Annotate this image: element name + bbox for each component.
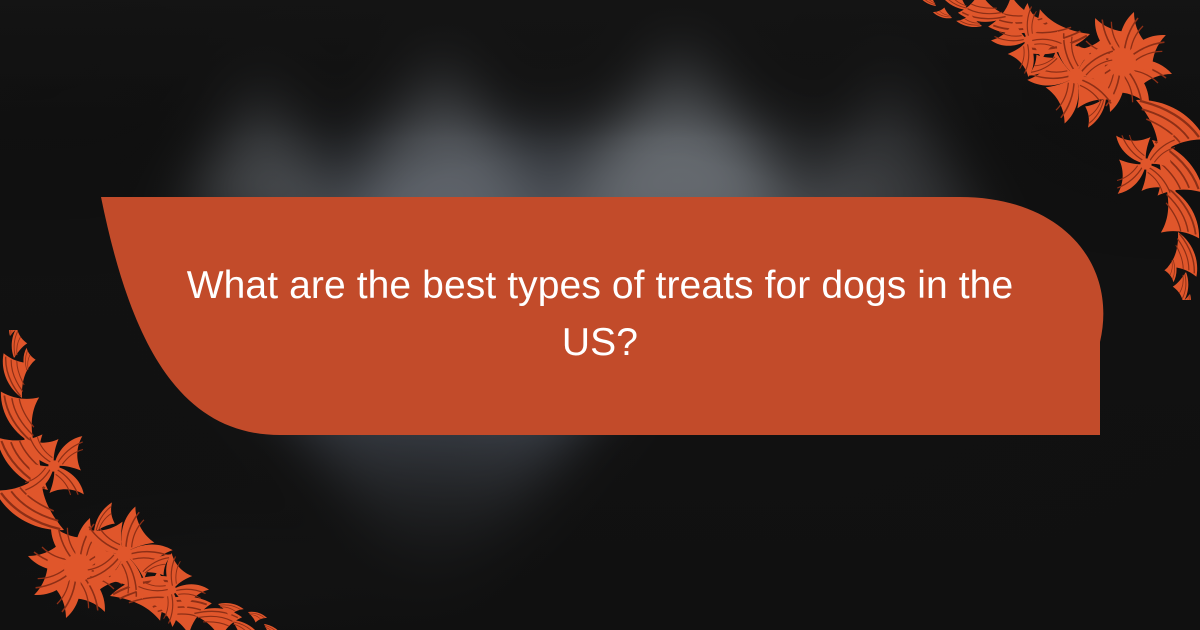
page-title: What are the best types of treats for do…	[160, 195, 1040, 435]
social-share-card: What are the best types of treats for do…	[0, 0, 1200, 630]
